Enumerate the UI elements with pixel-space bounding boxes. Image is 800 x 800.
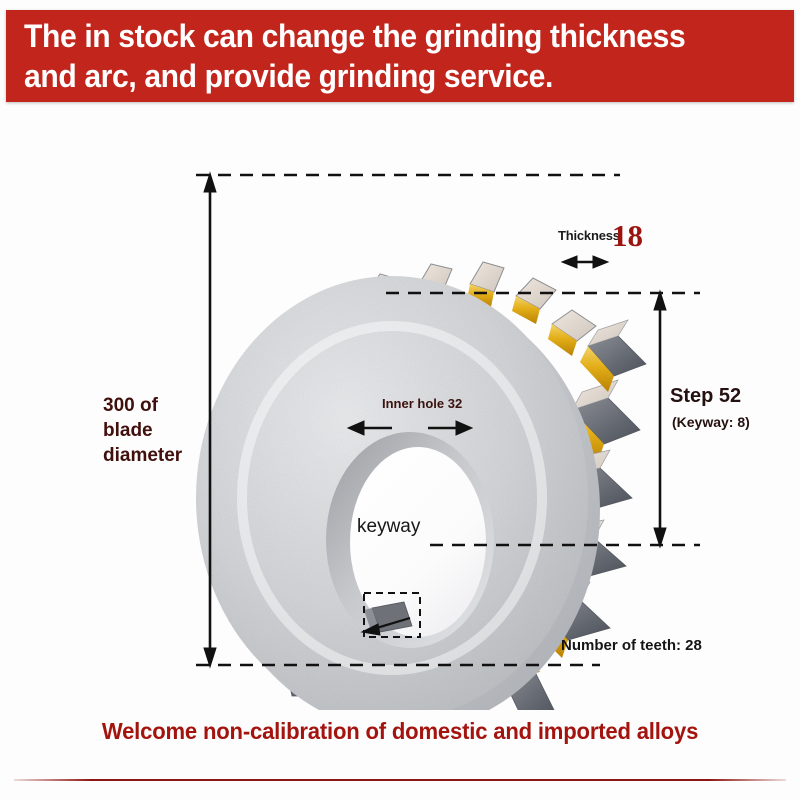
header-banner-text: The in stock can change the grinding thi… xyxy=(24,16,738,96)
label-thickness-value: 18 xyxy=(612,218,643,254)
label-inner-hole: Inner hole 32 xyxy=(382,396,462,411)
product-spec-image: The in stock can change the grinding thi… xyxy=(0,0,800,800)
footer-text: Welcome non-calibration of domestic and … xyxy=(16,718,784,745)
blade-inner-hole xyxy=(326,432,494,648)
arrow-thickness-right xyxy=(593,256,608,268)
label-keyway: keyway xyxy=(357,516,420,538)
label-step-keyway: (Keyway: 8) xyxy=(672,414,750,430)
arrow-thickness-left xyxy=(562,256,577,268)
footer-divider xyxy=(14,779,786,781)
label-number-of-teeth: Number of teeth: 28 xyxy=(561,637,702,654)
header-banner: The in stock can change the grinding thi… xyxy=(6,10,794,102)
label-thickness: Thickness xyxy=(558,228,620,243)
label-step: Step 52 xyxy=(670,385,741,408)
tooth xyxy=(512,278,556,324)
label-blade-diameter: 300 of blade diameter xyxy=(103,393,182,468)
